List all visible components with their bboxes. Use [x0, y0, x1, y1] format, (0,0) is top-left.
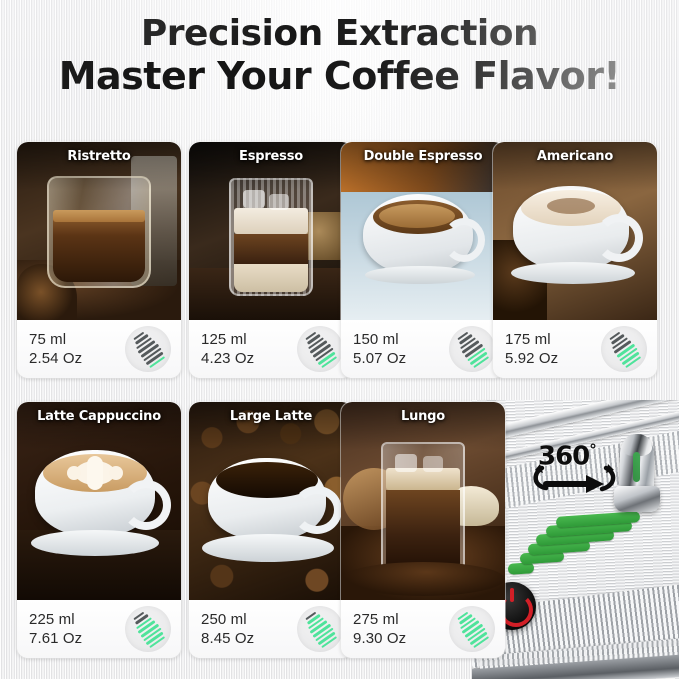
drink-volume-ml: 75 ml: [29, 331, 66, 348]
drink-volume: 250 ml 8.45 Oz: [201, 610, 254, 648]
drink-title: Espresso: [189, 149, 353, 164]
drink-volume-oz: 9.30 Oz: [353, 629, 406, 648]
rotation-badge-degree: °: [589, 441, 596, 459]
drink-volume: 125 ml 4.23 Oz: [201, 330, 254, 368]
fill-level-bars: [440, 597, 504, 658]
fill-level-bars: [116, 317, 180, 378]
drink-volume-oz: 5.92 Oz: [505, 349, 558, 368]
fill-level-bars: [592, 317, 656, 378]
fill-level-icon: [297, 606, 343, 652]
drink-title: Large Latte: [189, 409, 353, 424]
drink-title: Double Espresso: [341, 149, 505, 164]
drink-card-latte-cappuccino[interactable]: Latte Cappuccino 225 ml 7.61 Oz: [17, 402, 181, 658]
drink-card-americano[interactable]: Americano 175 ml 5.92 Oz: [493, 142, 657, 378]
drink-volume-oz: 8.45 Oz: [201, 629, 254, 648]
drink-photo: Double Espresso: [341, 142, 505, 320]
drink-volume: 275 ml 9.30 Oz: [353, 610, 406, 648]
drink-title: Latte Cappuccino: [17, 409, 181, 424]
rotate-arrow-icon: [528, 462, 620, 501]
drink-footer: 175 ml 5.92 Oz: [493, 320, 657, 378]
page-title: Precision Extraction Master Your Coffee …: [0, 16, 679, 95]
drink-footer: 125 ml 4.23 Oz: [189, 320, 353, 378]
drink-card-large-latte[interactable]: Large Latte 250 ml 8.45 Oz: [189, 402, 353, 658]
fill-level-icon: [601, 326, 647, 372]
drink-volume: 75 ml 2.54 Oz: [29, 330, 82, 368]
drink-title: Ristretto: [17, 149, 181, 164]
drink-volume-ml: 275 ml: [353, 611, 399, 628]
drink-volume-oz: 7.61 Oz: [29, 629, 82, 648]
drink-volume: 150 ml 5.07 Oz: [353, 330, 406, 368]
drink-photo: Espresso: [189, 142, 353, 320]
fill-level-bars: [116, 597, 180, 658]
drink-title: Americano: [493, 149, 657, 164]
drink-card-double-espresso[interactable]: Double Espresso 150 ml 5.07 Oz: [341, 142, 505, 378]
drink-footer: 150 ml 5.07 Oz: [341, 320, 505, 378]
drink-volume-oz: 2.54 Oz: [29, 349, 82, 368]
fill-level-icon: [297, 326, 343, 372]
headline-line-2: Master Your Coffee Flavor!: [0, 57, 679, 96]
drink-volume: 175 ml 5.92 Oz: [505, 330, 558, 368]
drink-title: Lungo: [341, 409, 505, 424]
machine-green-bar: [508, 562, 535, 575]
drink-card-ristretto[interactable]: Ristretto 75 ml 2.54 Oz: [17, 142, 181, 378]
drink-photo: Latte Cappuccino: [17, 402, 181, 600]
drink-photo: Lungo: [341, 402, 505, 600]
drink-photo: Americano: [493, 142, 657, 320]
drink-footer: 250 ml 8.45 Oz: [189, 600, 353, 658]
drink-photo: Ristretto: [17, 142, 181, 320]
drink-footer: 225 ml 7.61 Oz: [17, 600, 181, 658]
wand-base: [614, 486, 660, 512]
power-stem: [510, 588, 514, 602]
wand-green-stripe: [633, 452, 640, 482]
drink-volume-ml: 225 ml: [29, 611, 75, 628]
drink-footer: 275 ml 9.30 Oz: [341, 600, 505, 658]
drink-photo: Large Latte: [189, 402, 353, 600]
drink-volume-ml: 150 ml: [353, 331, 399, 348]
drink-card-lungo[interactable]: Lungo 275 ml 9.30 Oz: [341, 402, 505, 658]
drink-volume-oz: 4.23 Oz: [201, 349, 254, 368]
fill-level-icon: [449, 606, 495, 652]
drink-card-espresso[interactable]: Espresso 125 ml 4.23 Oz: [189, 142, 353, 378]
drink-volume-oz: 5.07 Oz: [353, 349, 406, 368]
drink-footer: 75 ml 2.54 Oz: [17, 320, 181, 378]
drink-volume-ml: 175 ml: [505, 331, 551, 348]
fill-level-icon: [125, 326, 171, 372]
drink-volume-ml: 250 ml: [201, 611, 247, 628]
drink-volume: 225 ml 7.61 Oz: [29, 610, 82, 648]
drink-volume-ml: 125 ml: [201, 331, 247, 348]
fill-level-icon: [125, 606, 171, 652]
steam-wand-icon: [620, 436, 666, 526]
fill-level-icon: [449, 326, 495, 372]
headline-line-1: Precision Extraction: [0, 16, 679, 53]
